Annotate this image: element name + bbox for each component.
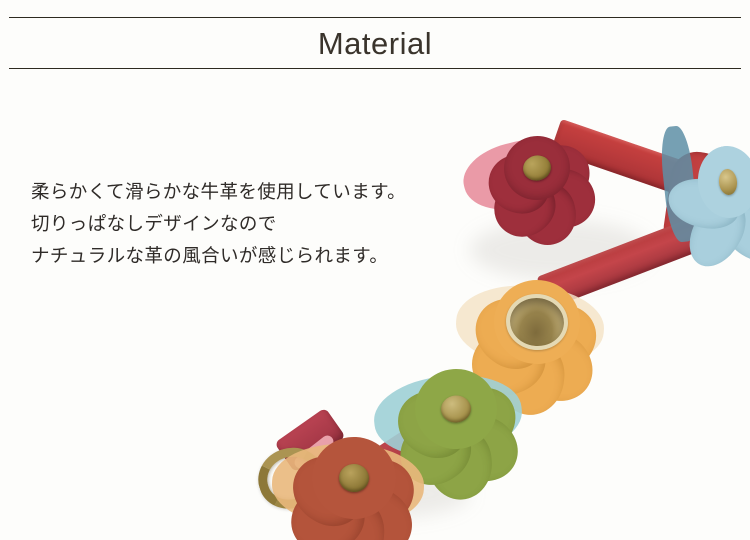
material-section-page: Material 柔らかくて滑らかな牛革を使用しています。 切りっぱなしデザイン…	[0, 0, 750, 540]
header-top-divider	[9, 17, 741, 18]
section-header: Material	[0, 0, 750, 78]
light-blue-flower	[665, 107, 750, 258]
page-title: Material	[0, 24, 750, 64]
product-photo	[0, 80, 750, 540]
header-bottom-divider	[9, 68, 741, 69]
rust-flower	[274, 402, 433, 540]
burgundy-flower	[462, 98, 611, 238]
